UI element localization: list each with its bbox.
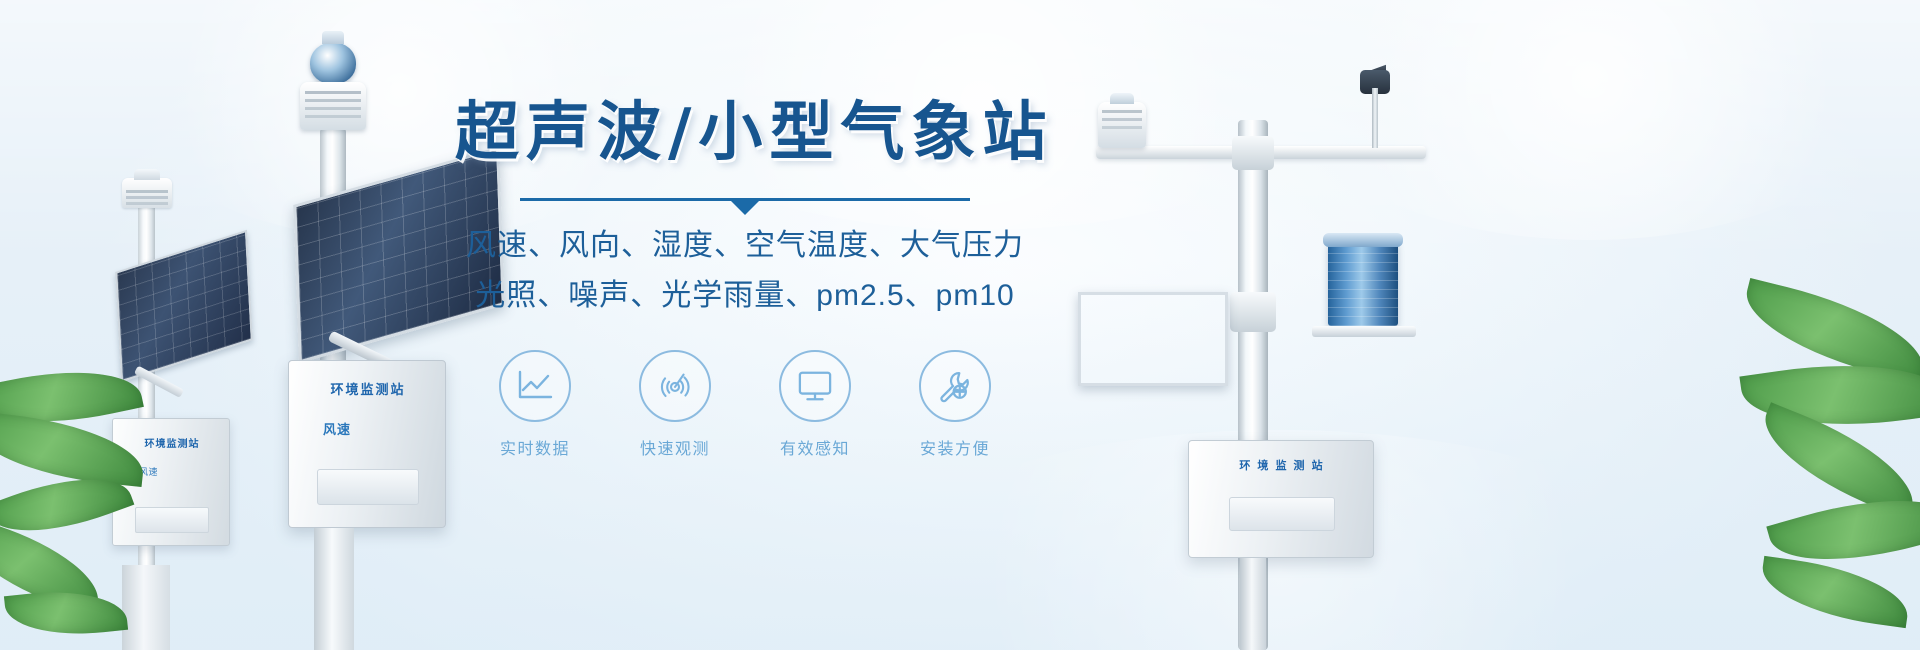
equipment-shelf	[1312, 326, 1416, 337]
cabinet-vent	[1229, 497, 1335, 531]
control-cabinet: 环境监测站 风速	[112, 418, 230, 546]
feature-icon-circle	[499, 350, 571, 422]
anemometer-pole	[1372, 88, 1378, 148]
feature-label: 有效感知	[773, 435, 857, 459]
cabinet-label: 环 境 监 测 站	[1203, 457, 1361, 473]
rain-gauge-icon	[1328, 240, 1398, 326]
mast-base	[122, 565, 170, 650]
monitor-screen-icon	[796, 369, 834, 403]
feature-label: 安装方便	[913, 435, 997, 459]
feature-icon-circle	[919, 350, 991, 422]
solar-panel	[1078, 292, 1228, 386]
feature-item-realtime-data[interactable]: 实时数据	[493, 350, 577, 459]
title-divider	[520, 198, 970, 201]
weather-station-small: 环境监测站 风速	[96, 170, 276, 650]
feature-label: 实时数据	[493, 435, 577, 459]
feature-list: 实时数据 快速观测	[455, 350, 1035, 459]
mast-base	[1240, 558, 1266, 650]
feature-icon-circle	[639, 350, 711, 422]
line-chart-icon	[516, 369, 554, 403]
cabinet-vent	[317, 469, 419, 505]
banner-content: 超声波/小型气象站 风速、风向、湿度、空气温度、大气压力 光照、噪声、光学雨量、…	[455, 100, 1035, 459]
dome-sensor-icon	[310, 42, 356, 84]
product-banner: 环境监测站 风速 环境监测站 风速	[0, 0, 1920, 650]
control-cabinet: 环境监测站 风速	[288, 360, 446, 528]
radiation-shield-sensor-icon	[300, 82, 366, 130]
cabinet-label: 环境监测站	[123, 435, 221, 450]
divider-triangle-icon	[731, 201, 759, 215]
wrench-tool-icon	[936, 367, 974, 405]
radar-signal-icon	[656, 367, 694, 405]
subtitle-line-1: 风速、风向、湿度、空气温度、大气压力	[455, 223, 1035, 270]
anemometer-windvane-icon	[1360, 62, 1390, 148]
page-title: 超声波/小型气象站	[455, 100, 1035, 168]
control-cabinet: 环 境 监 测 站	[1188, 440, 1374, 558]
radiation-shield-sensor-icon	[1098, 102, 1146, 148]
mast-base	[314, 528, 354, 650]
brand-logo: 风速	[323, 419, 351, 438]
brand-logo: 风速	[139, 465, 158, 478]
radiation-shield-sensor-icon	[122, 178, 172, 208]
weather-station-right: 环 境 监 测 站	[1060, 40, 1480, 650]
cabinet-vent	[135, 507, 209, 533]
leaf-decoration-right	[1660, 300, 1920, 650]
subtitle-line-2: 光照、噪声、光学雨量、pm2.5、pm10	[455, 273, 1035, 320]
cabinet-label: 环境监测站	[301, 379, 435, 398]
feature-item-fast-observation[interactable]: 快速观测	[633, 350, 717, 459]
feature-item-easy-install[interactable]: 安装方便	[913, 350, 997, 459]
mast-collar	[1232, 136, 1274, 170]
feature-item-effective-sensing[interactable]: 有效感知	[773, 350, 857, 459]
feature-label: 快速观测	[633, 435, 717, 459]
solar-panel	[115, 230, 253, 383]
feature-icon-circle	[779, 350, 851, 422]
mast-collar	[1230, 292, 1276, 332]
